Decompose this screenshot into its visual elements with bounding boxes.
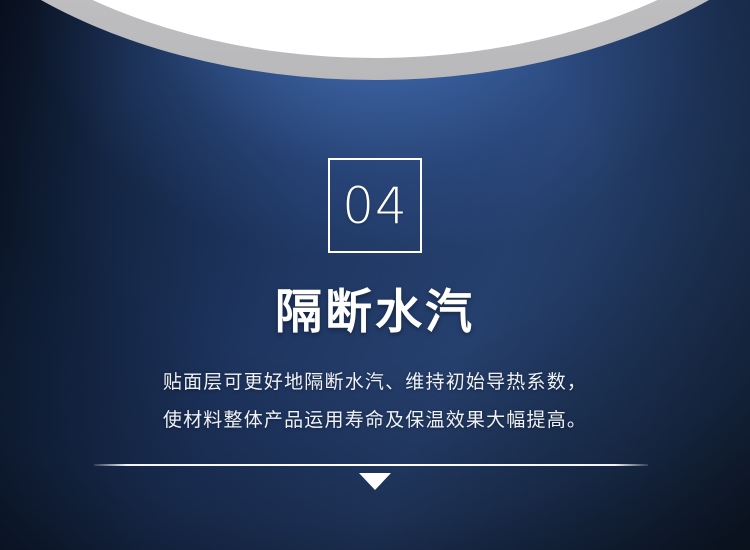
top-arc-decoration xyxy=(0,0,750,140)
body-line-1: 贴面层可更好地隔断水汽、维持初始导热系数， xyxy=(0,364,750,402)
body-line-2: 使材料整体产品运用寿命及保温效果大幅提高。 xyxy=(0,402,750,440)
divider-rule xyxy=(94,464,648,466)
promo-slide: 04 隔断水汽 贴面层可更好地隔断水汽、维持初始导热系数， 使材料整体产品运用寿… xyxy=(0,0,750,550)
page-title: 隔断水汽 xyxy=(0,286,750,339)
section-number-badge: 04 xyxy=(328,158,422,253)
section-number-label: 04 xyxy=(342,181,408,231)
chevron-down-icon xyxy=(359,473,391,490)
body-description: 贴面层可更好地隔断水汽、维持初始导热系数， 使材料整体产品运用寿命及保温效果大幅… xyxy=(0,364,750,440)
